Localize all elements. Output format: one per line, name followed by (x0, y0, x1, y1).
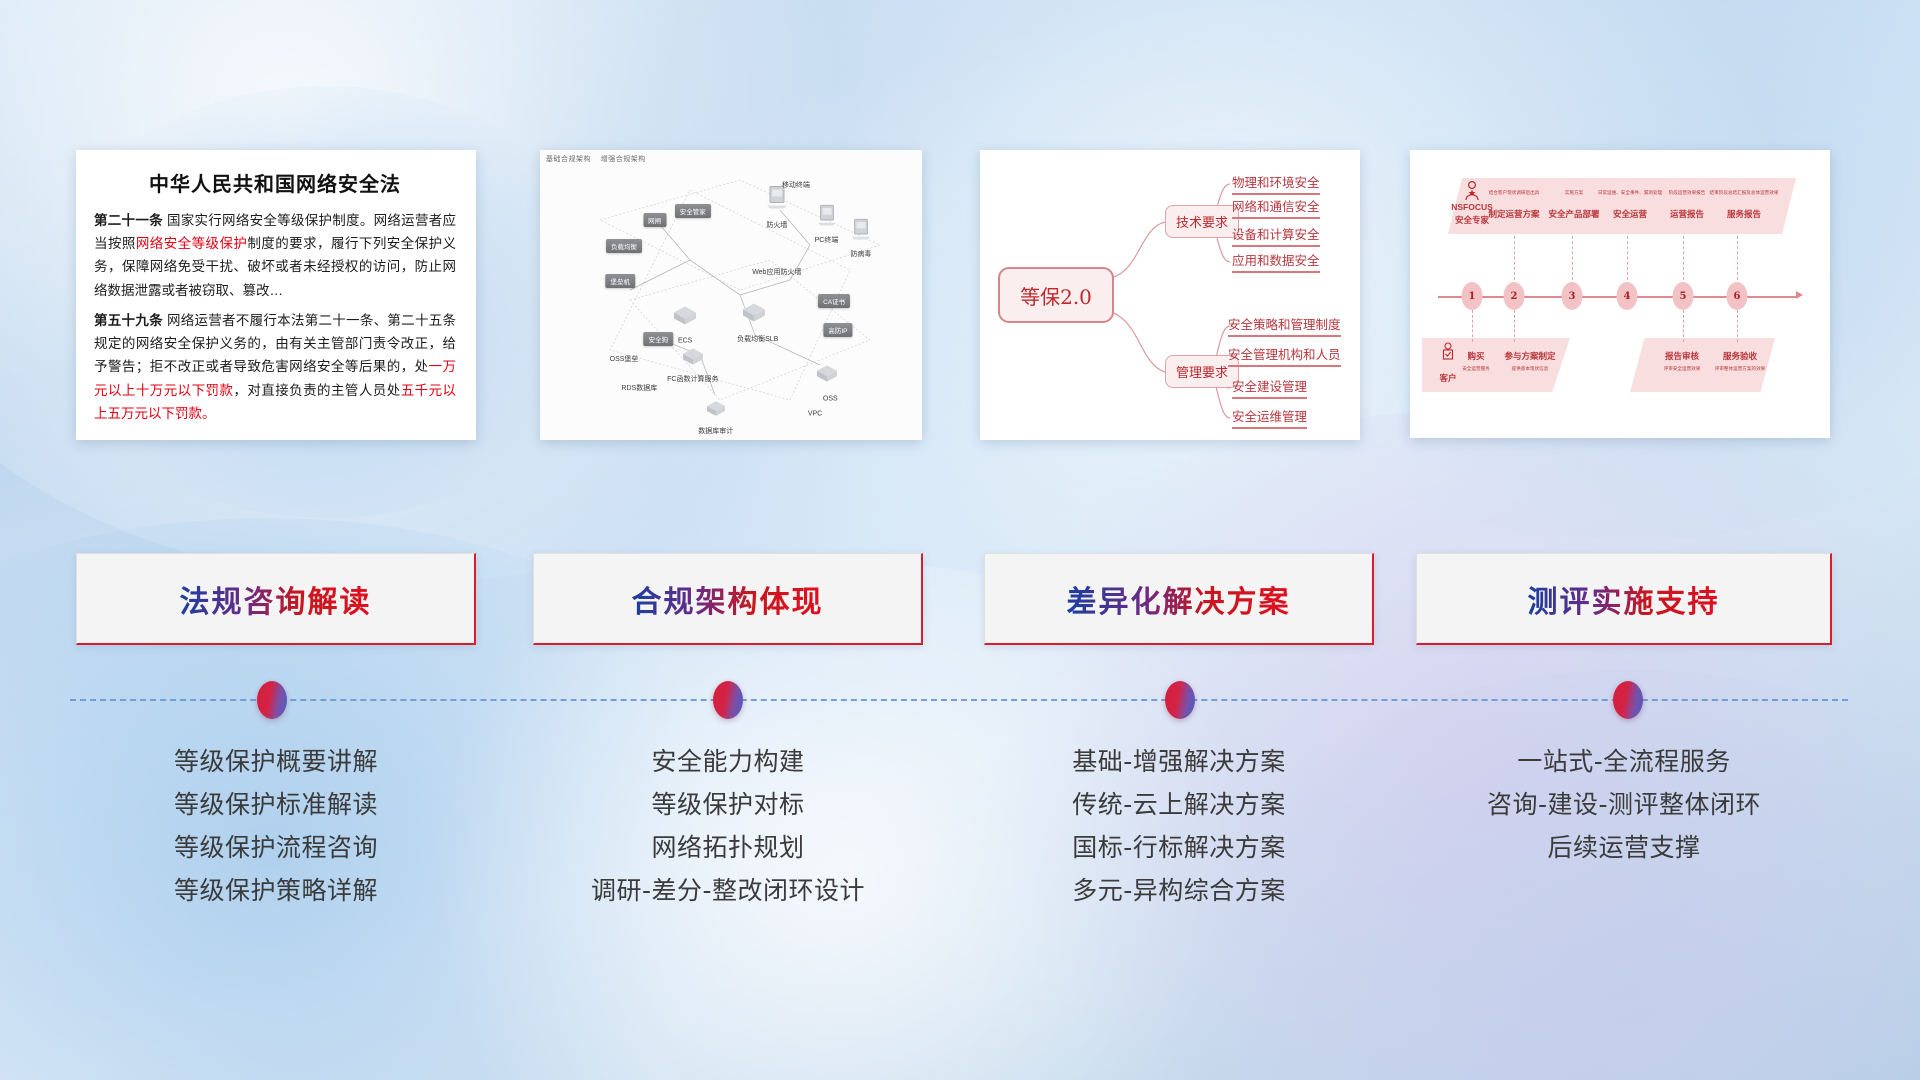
node-label-antivirus: 防病毒 (850, 249, 871, 259)
nsfocus-step-sub-9: 评审整体运营方案的效果 (1715, 366, 1766, 372)
list-item: 传统-云上解决方案 (984, 783, 1374, 826)
node-label-firewall: 防火墙 (766, 220, 787, 230)
nsfocus-step-sub-2: 提供基本现状信息 (1512, 366, 1549, 372)
nsfocus-step-dot-4: 4 (1617, 282, 1638, 310)
nsfocus-step-title-3: 制定运营方案 (1488, 208, 1539, 220)
nsfocus-connector-2 (1514, 236, 1516, 280)
nsfocus-step-sub-6: 阶段运营效果报告 (1669, 190, 1706, 196)
chip-safedog: 安全狗 (644, 332, 674, 346)
list-item: 等级保护流程咨询 (76, 826, 476, 869)
title-box-2[interactable]: 差异化解决方案 (984, 553, 1374, 645)
mindmap-leaf-mgmt-0: 安全策略和管理制度 (1228, 314, 1341, 337)
nsfocus-step-title-5: 安全运营 (1613, 208, 1647, 220)
node-label-pc-terminal: PC终端 (815, 235, 839, 245)
nsfocus-customer-band-right (1630, 338, 1775, 392)
server-icon-pc-terminal (816, 202, 838, 231)
feature-list-0: 等级保护概要讲解 等级保护标准解读 等级保护流程咨询 等级保护策略详解 (76, 740, 476, 912)
law-article-2-run-2: ，对直接负责的主管人员处 (233, 383, 400, 398)
architecture-diagram: 基础合规架构 增强合规架构 (540, 150, 922, 440)
node-label-waf: Web应用防火墙 (752, 267, 801, 277)
law-article-2: 第五十九条 网络运营者不履行本法第二十一条、第二十五条规定的网络安全保护义务的，… (94, 309, 456, 425)
list-item: 等级保护概要讲解 (76, 740, 476, 783)
mindmap-leaf-mgmt-1: 安全管理机构和人员 (1228, 344, 1341, 367)
timeline-marker-2[interactable] (1165, 681, 1195, 719)
feature-list-row: 等级保护概要讲解 等级保护标准解读 等级保护流程咨询 等级保护策略详解 安全能力… (0, 740, 1920, 1040)
node-label-vpc: VPC (808, 410, 822, 417)
list-item: 等级保护对标 (533, 783, 923, 826)
chip-load-balancer: 负载均衡 (606, 239, 642, 253)
mindmap-diagram: 等保2.0 技术要求 管理要求 物理和环境安全 网络和通信安全 设备和计算安全 … (980, 150, 1360, 440)
list-item: 国标-行标解决方案 (984, 826, 1374, 869)
nsfocus-step-title-8: 报告审核 (1665, 350, 1699, 362)
nsfocus-step-dot-2: 2 (1504, 282, 1525, 310)
nsfocus-connector-5 (1683, 236, 1685, 280)
nsfocus-step-title-4: 安全产品部署 (1548, 208, 1599, 220)
title-box-0[interactable]: 法规咨询解读 (76, 553, 476, 645)
nsfocus-step-title-2: 参与方案制定 (1504, 350, 1555, 362)
list-item: 咨询-建设-测评整体闭环 (1416, 783, 1832, 826)
title-box-label-1: 合规架构体现 (632, 577, 824, 621)
law-card-body: 中华人民共和国网络安全法 第二十一条 国家实行网络安全等级保护制度。网络运营者应… (76, 150, 476, 440)
mindmap-leaf-tech-1: 网络和通信安全 (1232, 196, 1320, 219)
law-article-2-number: 第五十九条 (94, 313, 163, 328)
node-label-db-audit: 数据库审计 (698, 426, 733, 436)
list-item: 等级保护策略详解 (76, 869, 476, 912)
timeline-marker-3[interactable] (1613, 681, 1643, 719)
mindmap-card: 等保2.0 技术要求 管理要求 物理和环境安全 网络和通信安全 设备和计算安全 … (980, 150, 1360, 440)
mindmap-branch-technical: 技术要求 (1165, 205, 1239, 238)
nsfocus-step-title-7: 服务报告 (1727, 208, 1761, 220)
list-item: 调研-差分-整改闭环设计 (533, 869, 923, 912)
mindmap-leaf-mgmt-3: 安全运维管理 (1232, 406, 1307, 429)
nsfocus-connector-6b (1737, 310, 1739, 342)
list-item: 一站式-全流程服务 (1416, 740, 1832, 783)
law-article-1-run-1: 网络安全等级保护 (136, 236, 248, 251)
chip-bastion-host: 堡垒机 (605, 274, 635, 288)
nsfocus-expert-label-1: NSFOCUS (1451, 202, 1493, 212)
nsfocus-timeline-arrow-icon (1796, 291, 1803, 299)
list-item: 后续运营支撑 (1416, 826, 1832, 869)
nsfocus-step-dot-5: 5 (1673, 282, 1694, 310)
server-icon-antivirus (850, 217, 872, 246)
timeline-track (0, 672, 1920, 732)
nsfocus-connector-1b (1472, 310, 1474, 342)
nsfocus-connector-2b (1514, 310, 1516, 342)
chip-anti-ddos-ip: 高防IP (823, 323, 852, 337)
nsfocus-expert-band (1448, 178, 1796, 234)
node-label-oss: OSS (823, 396, 838, 403)
nsfocus-expert-label-2: 安全专家 (1455, 214, 1489, 226)
mindmap-leaf-tech-2: 设备和计算安全 (1232, 224, 1320, 247)
title-box-1[interactable]: 合规架构体现 (533, 553, 923, 645)
list-item: 等级保护标准解读 (76, 783, 476, 826)
nsfocus-step-sub-4: 实施方案 (1565, 190, 1583, 196)
timeline-dashed-line (70, 699, 1848, 701)
nsfocus-step-dot-6: 6 (1727, 282, 1748, 310)
cube-icon-ecs (672, 305, 698, 332)
nsfocus-timeline-diagram: NSFOCUS 安全专家 客户 1 2 3 4 5 6 (1410, 150, 1830, 438)
list-item: 安全能力构建 (533, 740, 923, 783)
law-article-1-number: 第二十一条 (94, 213, 163, 228)
illustration-card-row: 中华人民共和国网络安全法 第二十一条 国家实行网络安全等级保护制度。网络运营者应… (0, 150, 1920, 450)
nsfocus-step-sub-3: 结合客户现状调研后出具 (1489, 190, 1540, 196)
feature-list-3: 一站式-全流程服务 咨询-建设-测评整体闭环 后续运营支撑 (1416, 740, 1832, 869)
node-label-fc: FC函数计算服务 (667, 374, 718, 384)
nsfocus-connector-4 (1627, 236, 1629, 280)
nsfocus-step-dot-3: 3 (1562, 282, 1583, 310)
node-label-ecs: ECS (678, 338, 692, 345)
nsfocus-connector-3 (1572, 236, 1574, 280)
mindmap-leaf-tech-0: 物理和环境安全 (1232, 172, 1320, 195)
title-box-label-0: 法规咨询解读 (180, 577, 372, 621)
timeline-marker-1[interactable] (713, 681, 743, 719)
mindmap-root-node: 等保2.0 (998, 267, 1114, 323)
cube-icon-fc (681, 346, 705, 371)
list-item: 多元-异构综合方案 (984, 869, 1374, 912)
cube-icon-oss (815, 364, 839, 389)
node-label-oss-bastion: OSS堡垒 (610, 354, 639, 364)
list-item: 基础-增强解决方案 (984, 740, 1374, 783)
node-label-rds: RDS数据库 (621, 383, 657, 393)
architecture-card: 基础合规架构 增强合规架构 (540, 150, 922, 440)
nsfocus-connector-5b (1683, 310, 1685, 342)
list-item: 网络拓扑规划 (533, 826, 923, 869)
chip-ca-certificate: CA证书 (818, 294, 850, 308)
chip-security-housekeeper: 安全管家 (675, 204, 711, 218)
nsfocus-step-dot-1: 1 (1462, 282, 1483, 310)
nsfocus-step-sub-5: 日常运维、安全事件、漏洞处理 (1598, 190, 1662, 196)
architecture-connector-lines (540, 150, 922, 440)
nsfocus-step-sub-8: 评审安全运营效果 (1664, 366, 1701, 372)
mindmap-leaf-mgmt-2: 安全建设管理 (1232, 376, 1307, 399)
nsfocus-step-title-6: 运营报告 (1670, 208, 1704, 220)
nsfocus-customer-label: 客户 (1439, 372, 1456, 384)
law-card-title: 中华人民共和国网络安全法 (94, 168, 456, 197)
feature-list-2: 基础-增强解决方案 传统-云上解决方案 国标-行标解决方案 多元-异构综合方案 (984, 740, 1374, 912)
chip-gateway: 网闸 (643, 213, 666, 227)
nsfocus-step-sub-7: 结束阶段总结汇报及总体运营效果 (1710, 190, 1779, 196)
title-box-label-3: 测评实施支持 (1528, 577, 1720, 621)
timeline-marker-0[interactable] (257, 681, 287, 719)
mindmap-leaf-tech-3: 应用和数据安全 (1232, 250, 1320, 273)
node-label-mobile-terminal: 移动终端 (782, 180, 810, 190)
nsfocus-timeline-card: NSFOCUS 安全专家 客户 1 2 3 4 5 6 (1410, 150, 1830, 438)
customer-icon (1440, 342, 1456, 369)
nsfocus-step-title-9: 服务验收 (1723, 350, 1757, 362)
title-box-label-2: 差异化解决方案 (1067, 577, 1291, 621)
title-box-row: 法规咨询解读 合规架构体现 差异化解决方案 测评实施支持 (0, 553, 1920, 645)
law-article-1: 第二十一条 国家实行网络安全等级保护制度。网络运营者应当按照网络安全等级保护制度… (94, 209, 456, 302)
feature-list-1: 安全能力构建 等级保护对标 网络拓扑规划 调研-差分-整改闭环设计 (533, 740, 923, 912)
nsfocus-step-title-1: 购买 (1467, 350, 1484, 362)
title-box-3[interactable]: 测评实施支持 (1416, 553, 1832, 645)
nsfocus-step-sub-1: 安全运营服务 (1462, 366, 1490, 372)
law-card: 中华人民共和国网络安全法 第二十一条 国家实行网络安全等级保护制度。网络运营者应… (76, 150, 476, 440)
node-label-slb: 负载均衡SLB (737, 334, 778, 344)
nsfocus-connector-6 (1737, 236, 1739, 280)
cube-icon-slb (741, 302, 767, 329)
cube-icon-db-audit (705, 400, 727, 423)
